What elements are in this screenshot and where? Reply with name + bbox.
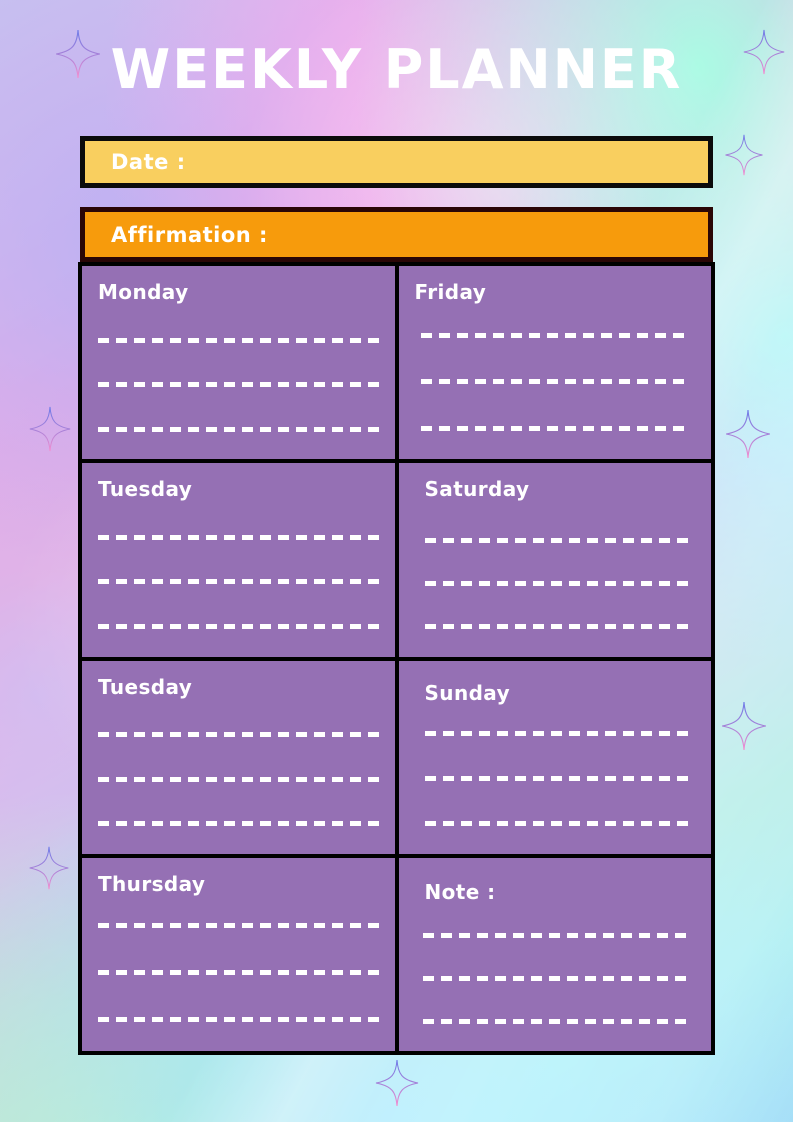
writing-lines-monday xyxy=(98,318,381,451)
day-cell-thursday[interactable]: Thursday xyxy=(82,858,395,1051)
planner-title-text: WEEKLY PLANNER xyxy=(111,34,683,106)
day-cell-label-sunday: Sunday xyxy=(425,681,696,705)
dashed-line xyxy=(98,821,381,826)
day-cell-monday[interactable]: Monday xyxy=(82,266,395,459)
dashed-line xyxy=(98,1017,381,1022)
page-title: WEEKLY PLANNER xyxy=(0,34,793,108)
day-cell-label-saturday: Saturday xyxy=(425,477,696,501)
dashed-line xyxy=(425,821,692,826)
dashed-line xyxy=(98,923,381,928)
day-cell-label-note: Note : xyxy=(425,880,696,904)
writing-lines-tuesday-2 xyxy=(98,713,381,846)
writing-lines-tuesday xyxy=(98,515,381,648)
day-cell-label-monday: Monday xyxy=(98,280,379,304)
day-cell-saturday[interactable]: Saturday xyxy=(399,463,712,656)
day-cell-label-friday: Friday xyxy=(415,280,696,304)
writing-lines-note xyxy=(423,914,694,1043)
dashed-line xyxy=(425,538,692,543)
weekly-grid: MondayFridayTuesdaySaturdayTuesdaySunday… xyxy=(78,262,715,1055)
writing-lines-friday xyxy=(421,312,692,451)
dashed-line xyxy=(423,1019,694,1024)
date-field-label: Date : xyxy=(111,150,186,174)
day-cell-label-tuesday: Tuesday xyxy=(98,477,379,501)
day-cell-label-thursday: Thursday xyxy=(98,872,379,896)
dashed-line xyxy=(423,933,694,938)
writing-lines-thursday xyxy=(98,902,381,1043)
dashed-line xyxy=(98,970,381,975)
dashed-line xyxy=(425,776,692,781)
dashed-line xyxy=(425,581,692,586)
date-field[interactable]: Date : xyxy=(80,136,713,188)
dashed-line xyxy=(98,579,381,584)
dashed-line xyxy=(98,382,381,387)
day-cell-label-tuesday-2: Tuesday xyxy=(98,675,379,699)
dashed-line xyxy=(98,777,381,782)
dashed-line xyxy=(421,333,692,338)
day-cell-sunday[interactable]: Sunday xyxy=(399,661,712,854)
dashed-line xyxy=(98,338,381,343)
dashed-line xyxy=(421,379,692,384)
day-cell-tuesday[interactable]: Tuesday xyxy=(82,463,395,656)
day-cell-tuesday-2[interactable]: Tuesday xyxy=(82,661,395,854)
affirmation-field[interactable]: Affirmation : xyxy=(80,207,713,262)
day-cell-note[interactable]: Note : xyxy=(399,858,712,1051)
day-cell-friday[interactable]: Friday xyxy=(399,266,712,459)
dashed-line xyxy=(421,426,692,431)
writing-lines-saturday xyxy=(425,519,692,648)
dashed-line xyxy=(98,427,381,432)
writing-lines-sunday xyxy=(425,711,692,846)
dashed-line xyxy=(98,624,381,629)
dashed-line xyxy=(425,624,692,629)
dashed-line xyxy=(423,976,694,981)
affirmation-field-label: Affirmation : xyxy=(111,223,268,247)
dashed-line xyxy=(98,535,381,540)
dashed-line xyxy=(98,732,381,737)
dashed-line xyxy=(425,731,692,736)
